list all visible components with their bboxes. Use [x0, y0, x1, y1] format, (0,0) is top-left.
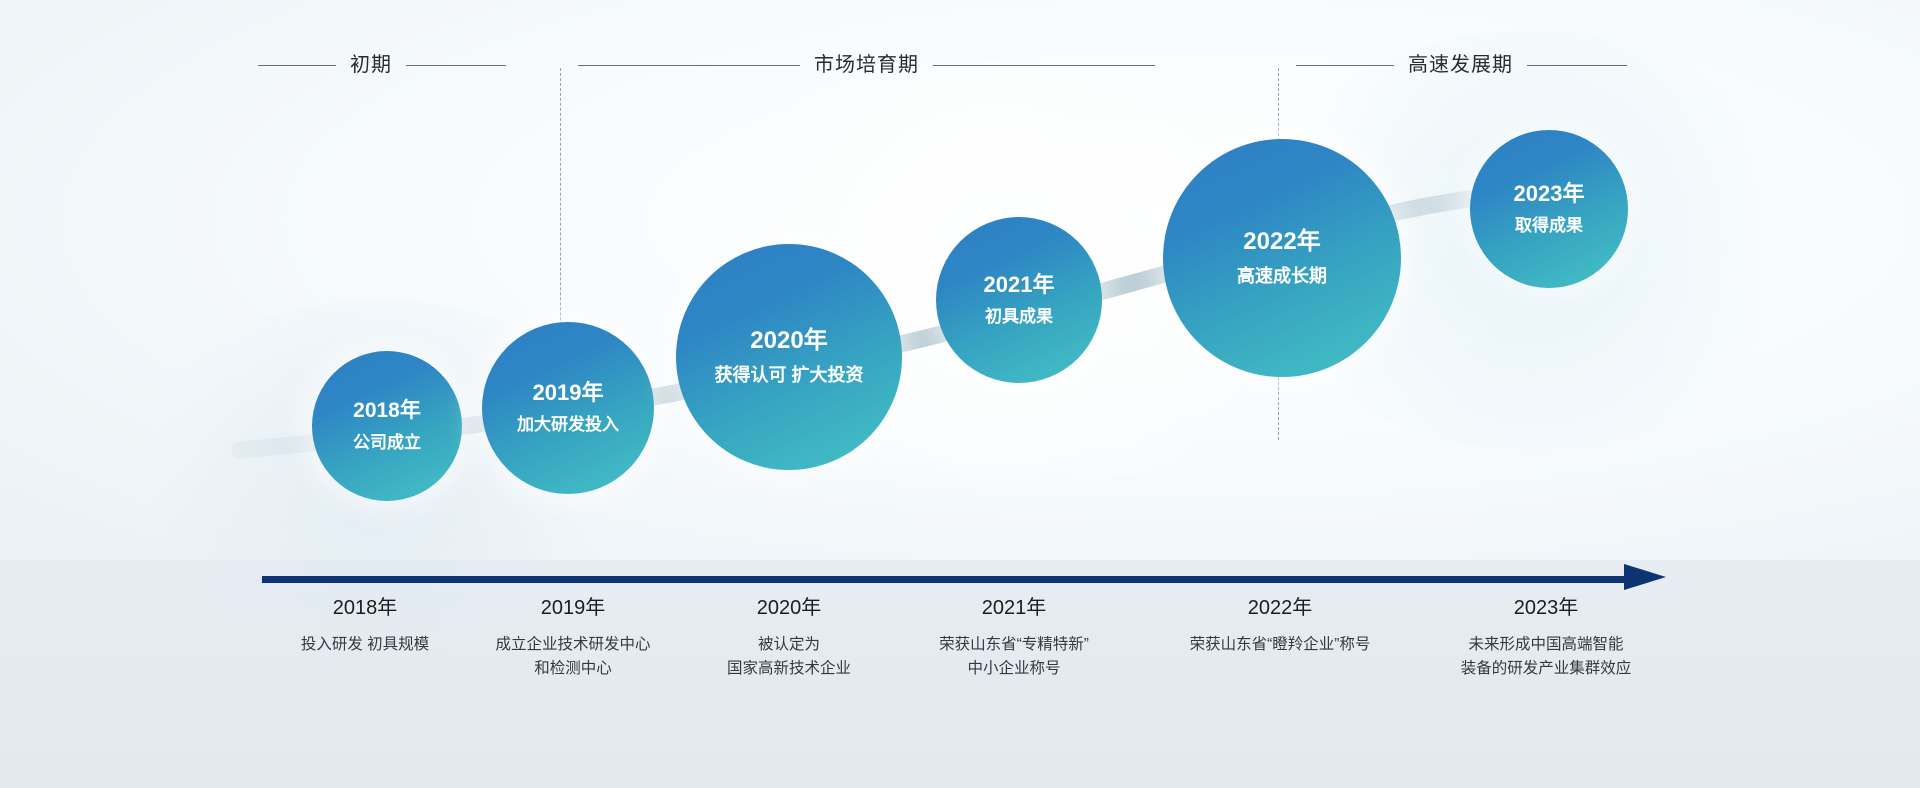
phase-header-row: 初期 市场培育期 高速发展期	[0, 50, 1920, 84]
phase-rule-right	[933, 65, 1155, 66]
bubble-description: 加大研发投入	[517, 415, 619, 435]
caption-year: 2023年	[1361, 598, 1731, 618]
phase-group: 市场培育期	[578, 55, 1155, 75]
caption-line-1: 未来形成中国高端智能	[1361, 633, 1731, 657]
milestone-bubble-2023[interactable]: 2023年 取得成果	[1470, 130, 1628, 288]
milestone-bubble-2021[interactable]: 2021年 初具成果	[936, 217, 1102, 383]
phase-rule-left	[578, 65, 800, 66]
bubble-year: 2020年	[750, 328, 827, 354]
milestone-bubble-2022[interactable]: 2022年 高速成长期	[1163, 139, 1401, 377]
phase-label: 市场培育期	[814, 55, 919, 75]
arrow-right-icon	[1624, 564, 1666, 590]
bubble-year: 2019年	[533, 381, 604, 405]
bubble-description: 公司成立	[353, 433, 421, 453]
axis-line	[262, 576, 1634, 583]
phase-label: 高速发展期	[1408, 55, 1513, 75]
bubble-description: 高速成长期	[1237, 266, 1327, 288]
bubble-year: 2023年	[1514, 182, 1585, 206]
bubble-description: 取得成果	[1515, 216, 1583, 236]
caption-line-2: 装备的研发产业集群效应	[1361, 657, 1731, 681]
bubble-description: 获得认可 扩大投资	[714, 365, 863, 387]
bubble-year: 2021年	[984, 273, 1055, 297]
bubble-year: 2018年	[353, 399, 421, 422]
phase-group: 初期	[258, 55, 506, 75]
phase-rule-left	[1296, 65, 1394, 66]
phase-rule-left	[258, 65, 336, 66]
caption-line-2: 中小企业称号	[849, 657, 1179, 681]
timeline-axis	[262, 573, 1662, 585]
milestone-bubble-2020[interactable]: 2020年 获得认可 扩大投资	[676, 244, 902, 470]
milestone-bubble-2019[interactable]: 2019年 加大研发投入	[482, 322, 654, 494]
phase-rule-right	[406, 65, 506, 66]
phase-rule-right	[1527, 65, 1627, 66]
phase-label: 初期	[350, 55, 392, 75]
bubble-description: 初具成果	[985, 307, 1053, 327]
phase-group: 高速发展期	[1296, 55, 1627, 75]
bubble-year: 2022年	[1243, 229, 1320, 255]
axis-caption-2023: 2023年 未来形成中国高端智能 装备的研发产业集群效应	[1361, 598, 1731, 681]
milestone-bubble-2018[interactable]: 2018年 公司成立	[312, 351, 462, 501]
